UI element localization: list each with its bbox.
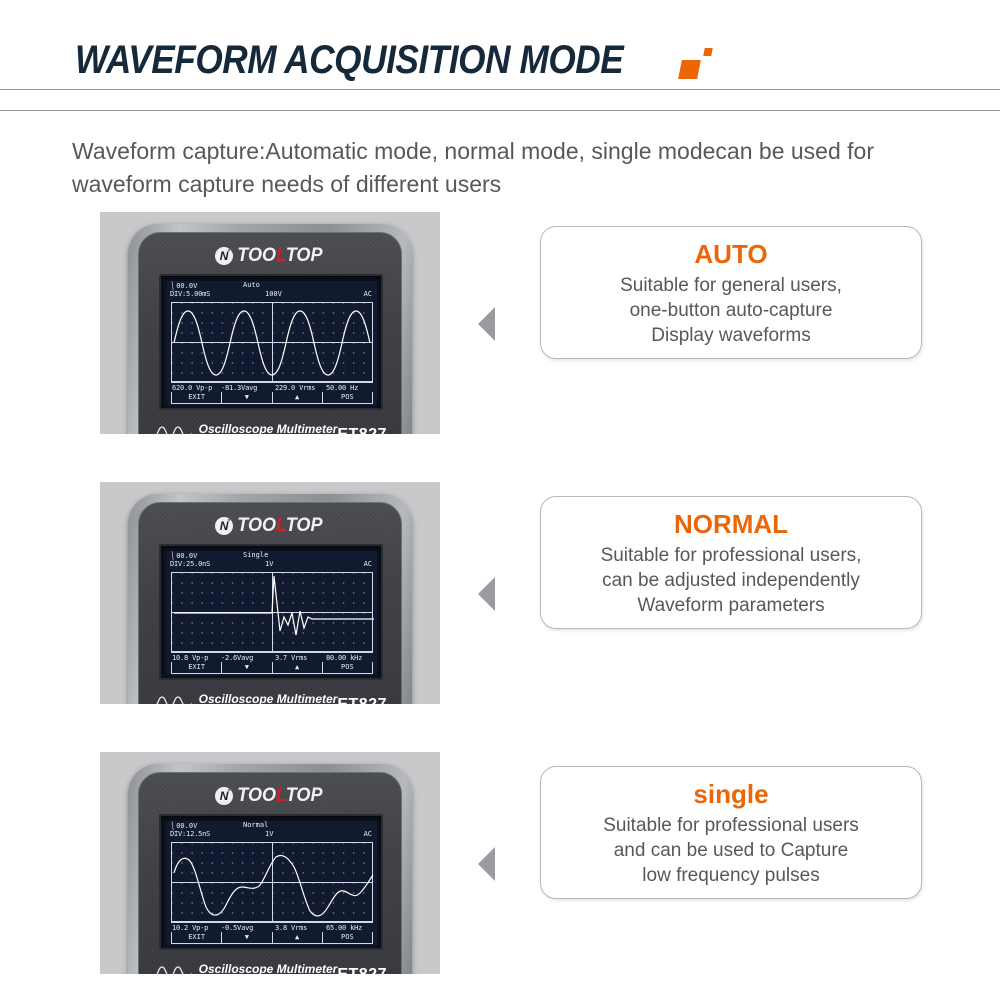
lcd-voltage-range: 1V [265,830,273,839]
device-faceplate: TOOLTOP ╱00.0V DIV:12.5nS Normal 1V AC [138,772,402,974]
lcd-bezel: ╱00.0V DIV:12.5nS Normal 1V AC [159,814,383,950]
device-photo-single: TOOLTOP ╱00.0V DIV:12.5nS Normal 1V AC [100,752,440,974]
device-model: ET827 [337,966,387,974]
lcd-waveform-graticule [171,302,373,382]
device-product-labels: Oscilloscope Multimeter 200Msps/40MHz [197,690,339,704]
device-faceplate: TOOLTOP ╱00.0V DIV:25.0nS Single 1V AC [138,502,402,704]
header-divider-bottom [0,110,1000,111]
softkey-up-icon[interactable]: ▲ [273,932,323,943]
callout-title-normal: NORMAL [541,509,921,539]
pointer-arrow-icon-auto [478,307,495,341]
waveform-glyph-icon [153,693,193,704]
lcd-coupling-mode: AC [364,560,372,569]
lcd-screen-single[interactable]: ╱00.0V DIV:25.0nS Single 1V AC [167,551,377,675]
lcd-coupling-mode: AC [364,830,372,839]
pointer-arrow-icon-normal [478,577,495,611]
softkey-pos[interactable]: POS [323,932,372,943]
device-body: TOOLTOP ╱00.0V DIV:5.00mS Auto 100V AC [128,224,412,434]
lcd-screen-normal[interactable]: ╱00.0V DIV:12.5nS Normal 1V AC [167,821,377,945]
callout-card-single: single Suitable for professional users a… [540,766,922,899]
softkey-pos[interactable]: POS [323,392,372,403]
page-title: WAVEFORM ACQUISITION MODE [75,38,623,83]
tooltop-logo-icon [215,517,233,535]
intro-paragraph: Waveform capture:Automatic mode, normal … [72,135,902,201]
softkey-down-icon[interactable]: ▼ [222,662,272,673]
softkey-exit[interactable]: EXIT [172,662,222,673]
callout-line: low frequency pulses [555,863,907,888]
softkey-up-icon[interactable]: ▲ [273,392,323,403]
softkey-down-icon[interactable]: ▼ [222,932,272,943]
lcd-status-bar: ╱00.0V DIV:12.5nS Normal 1V AC [167,821,377,843]
device-body: TOOLTOP ╱00.0V DIV:25.0nS Single 1V AC [128,494,412,704]
waveform-trace-sine [172,303,374,383]
device-brand: TOOLTOP [139,515,401,535]
device-product-labels: Oscilloscope Multimeter 200Msps/40MHz [197,420,339,434]
title-accent-squares-icon [680,48,726,82]
lcd-softkey-bar: EXIT ▼ ▲ POS [171,392,373,404]
device-photo-normal: TOOLTOP ╱00.0V DIV:25.0nS Single 1V AC [100,482,440,704]
lcd-acquisition-mode: Auto [243,281,260,290]
mode-row-single: TOOLTOP ╱00.0V DIV:12.5nS Normal 1V AC [0,752,1000,982]
callout-line: one-button auto-capture [555,298,907,323]
header-divider-top [0,89,1000,90]
lcd-waveform-graticule [171,572,373,652]
callout-line: Waveform parameters [555,593,907,618]
callout-line: Display waveforms [555,323,907,348]
device-product-name: Oscilloscope Multimeter [199,692,338,704]
lcd-acquisition-mode: Normal [243,821,268,830]
softkey-up-icon[interactable]: ▲ [273,662,323,673]
callout-line: can be adjusted independently [555,568,907,593]
device-model: ET827 [337,696,387,704]
softkey-pos[interactable]: POS [323,662,372,673]
lcd-timebase-value: DIV:5.00mS [170,290,210,299]
tooltop-logo-icon [215,247,233,265]
device-brand: TOOLTOP [139,245,401,265]
waveform-trace-single-pulse [172,573,374,653]
lcd-waveform-graticule [171,842,373,922]
callout-body-normal: Suitable for professional users, can be … [541,543,921,618]
device-photo-auto: TOOLTOP ╱00.0V DIV:5.00mS Auto 100V AC [100,212,440,434]
lcd-status-bar: ╱00.0V DIV:5.00mS Auto 100V AC [167,281,377,303]
lcd-coupling-mode: AC [364,290,372,299]
pointer-arrow-icon-single [478,847,495,881]
lcd-softkey-bar: EXIT ▼ ▲ POS [171,662,373,674]
mode-row-auto: TOOLTOP ╱00.0V DIV:5.00mS Auto 100V AC [0,212,1000,442]
lcd-acquisition-mode: Single [243,551,268,560]
lcd-voltage-range: 100V [265,290,282,299]
brand-wordmark: TOOLTOP [237,785,322,807]
callout-line: and can be used to Capture [555,838,907,863]
lcd-timebase-value: DIV:12.5nS [170,830,210,839]
device-footer: Oscilloscope Multimeter 200Msps/40MHz ET… [139,418,401,434]
callout-title-auto: AUTO [541,239,921,269]
device-product-name: Oscilloscope Multimeter [199,422,338,434]
device-product-labels: Oscilloscope Multimeter 200Msps/40MHz [197,960,339,974]
device-body: TOOLTOP ╱00.0V DIV:12.5nS Normal 1V AC [128,764,412,974]
callout-body-auto: Suitable for general users, one-button a… [541,273,921,348]
brand-wordmark: TOOLTOP [237,515,322,537]
device-model: ET827 [337,426,387,434]
device-product-name: Oscilloscope Multimeter [199,962,338,974]
callout-body-single: Suitable for professional users and can … [541,813,921,888]
lcd-softkey-bar: EXIT ▼ ▲ POS [171,932,373,944]
device-brand: TOOLTOP [139,785,401,805]
page-header: WAVEFORM ACQUISITION MODE [0,0,1000,100]
lcd-voltage-range: 1V [265,560,273,569]
device-footer: Oscilloscope Multimeter 200Msps/40MHz ET… [139,688,401,704]
lcd-bezel: ╱00.0V DIV:25.0nS Single 1V AC [159,544,383,680]
lcd-bezel: ╱00.0V DIV:5.00mS Auto 100V AC [159,274,383,410]
lcd-screen-auto[interactable]: ╱00.0V DIV:5.00mS Auto 100V AC [167,281,377,405]
softkey-exit[interactable]: EXIT [172,932,222,943]
device-faceplate: TOOLTOP ╱00.0V DIV:5.00mS Auto 100V AC [138,232,402,434]
waveform-trace-complex [172,843,374,923]
lcd-timebase-value: DIV:25.0nS [170,560,210,569]
callout-line: Suitable for professional users, [555,543,907,568]
tooltop-logo-icon [215,787,233,805]
callout-line: Suitable for professional users [555,813,907,838]
waveform-glyph-icon [153,423,193,434]
softkey-down-icon[interactable]: ▼ [222,392,272,403]
brand-wordmark: TOOLTOP [237,245,322,267]
softkey-exit[interactable]: EXIT [172,392,222,403]
callout-card-auto: AUTO Suitable for general users, one-but… [540,226,922,359]
mode-row-normal: TOOLTOP ╱00.0V DIV:25.0nS Single 1V AC [0,482,1000,712]
callout-card-normal: NORMAL Suitable for professional users, … [540,496,922,629]
waveform-glyph-icon [153,963,193,974]
callout-title-single: single [541,779,921,809]
device-footer: Oscilloscope Multimeter 200Msps/40MHz ET… [139,958,401,974]
lcd-status-bar: ╱00.0V DIV:25.0nS Single 1V AC [167,551,377,573]
callout-line: Suitable for general users, [555,273,907,298]
